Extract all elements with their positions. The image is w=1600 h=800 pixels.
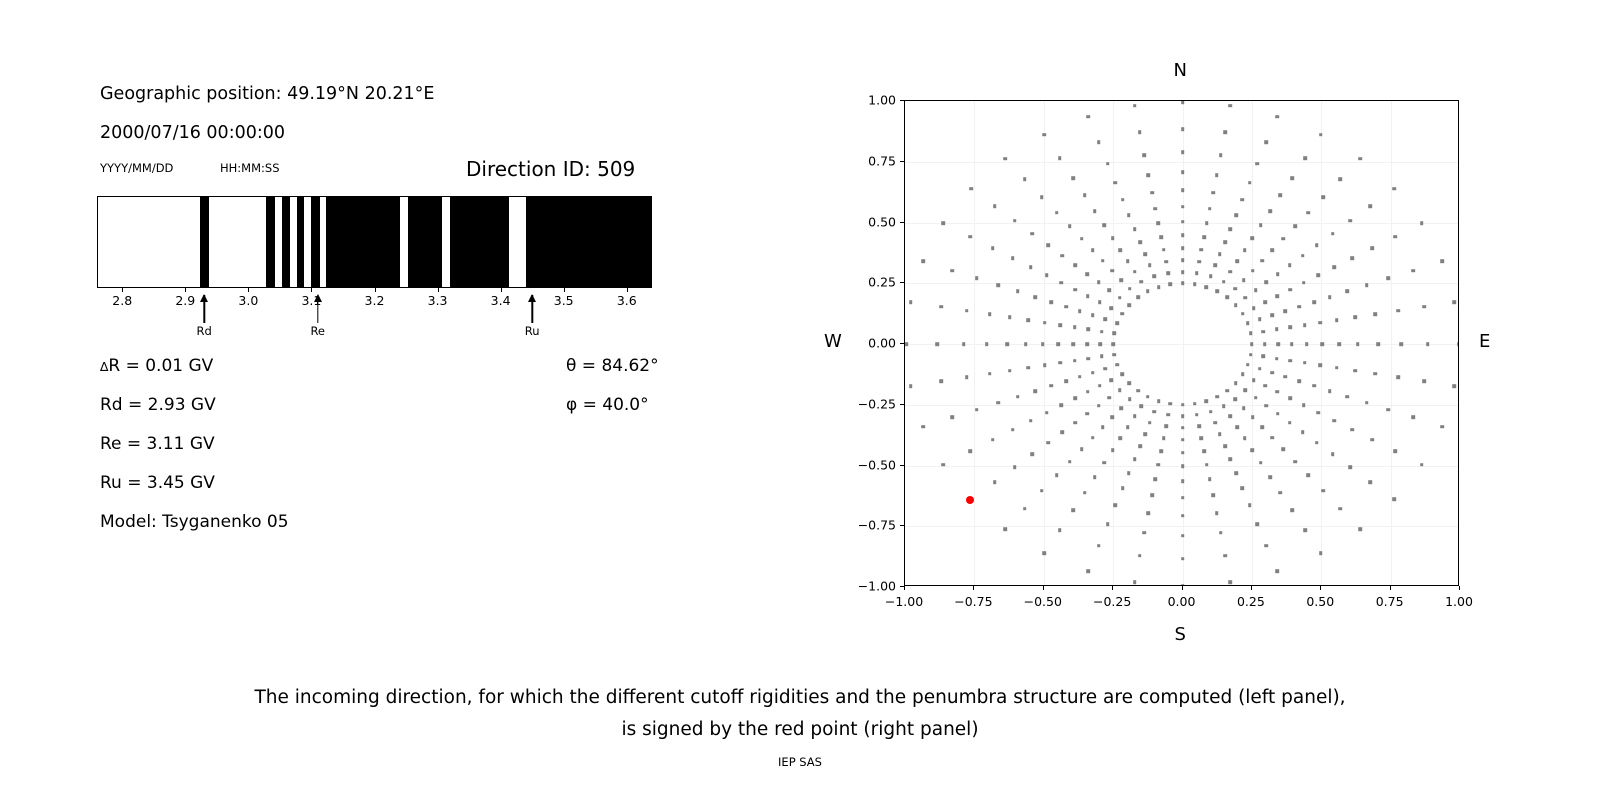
penumbra-band (311, 197, 320, 287)
direction-sample-point (1029, 419, 1033, 423)
direction-sample-point (1234, 381, 1238, 385)
direction-sample-point (1241, 487, 1245, 491)
direction-sample-point (1041, 342, 1045, 346)
direction-sample-point (1181, 189, 1185, 193)
direction-sample-point (1260, 425, 1264, 429)
direction-sample-point (1288, 359, 1292, 363)
direction-sample-point (1281, 447, 1285, 451)
direction-sample-point (1181, 281, 1185, 285)
direction-sample-point (1043, 133, 1047, 137)
direction-sample-point (1234, 471, 1238, 475)
direction-sample-point (965, 309, 969, 313)
direction-sample-point (1057, 342, 1061, 346)
direction-sample-point (1319, 552, 1323, 556)
direction-sample-point (1246, 363, 1250, 367)
penumbra-axis-tick (311, 288, 312, 292)
direction-sample-point (1080, 237, 1084, 241)
penumbra-band (282, 197, 290, 287)
direction-sample-point (1121, 373, 1125, 377)
direction-sample-point (1453, 300, 1457, 304)
x-axis-tick (1112, 586, 1113, 590)
direction-sample-point (1146, 290, 1150, 294)
compass-west-label: W (824, 331, 842, 352)
direction-sample-point (1204, 399, 1208, 403)
direction-sample-point (1276, 342, 1280, 346)
direction-sample-point (1112, 353, 1116, 357)
direction-sample-point (1097, 404, 1101, 408)
direction-sample-point (1333, 419, 1337, 423)
direction-sample-point (1013, 465, 1017, 469)
direction-sample-point (1074, 421, 1078, 425)
direction-sample-point (1259, 461, 1263, 465)
direction-sample-point (1181, 234, 1185, 238)
direction-sample-point (1213, 421, 1217, 425)
direction-sample-point (1104, 367, 1108, 371)
direction-sample-point (1338, 507, 1342, 511)
direction-sample-point (1241, 373, 1245, 377)
direction-sample-point (1073, 326, 1077, 330)
direction-sample-point (935, 342, 939, 346)
direction-sample-point (1256, 162, 1260, 166)
direction-sample-point (1029, 265, 1033, 269)
direction-sample-point (968, 450, 972, 454)
direction-sample-point (1396, 375, 1400, 379)
direction-sample-point (1248, 503, 1252, 507)
direction-sample-point (1116, 363, 1120, 367)
direction-sample-point (1166, 413, 1170, 417)
direction-sample-point (1086, 272, 1090, 276)
direction-sample-point (1164, 260, 1168, 264)
direction-sample-point (1205, 463, 1209, 467)
direction-sample-point (1252, 378, 1256, 382)
x-axis-tick-label: 0.25 (1237, 594, 1265, 609)
direction-sample-point (1422, 305, 1426, 309)
direction-sample-point (1181, 438, 1185, 442)
direction-sample-point (1080, 447, 1084, 451)
x-axis-tick-label: −0.50 (1024, 594, 1062, 609)
direction-sample-point (1116, 321, 1120, 325)
compass-east-label: E (1479, 331, 1490, 352)
gridline-horizontal (905, 162, 1458, 163)
direction-sample-point (1133, 580, 1137, 584)
direction-sample-point (1119, 436, 1123, 440)
y-axis-tick-label: 1.00 (842, 93, 896, 108)
direction-sample-point (1235, 425, 1239, 429)
direction-sample-point (1319, 133, 1323, 137)
direction-sample-point (1288, 263, 1292, 267)
direction-sample-point (1098, 384, 1102, 388)
model-value: Model: Tsyganenko 05 (100, 512, 289, 532)
x-axis-tick (1459, 586, 1460, 590)
direction-sample-point (1263, 342, 1267, 346)
direction-sample-point (1202, 449, 1206, 453)
direction-sample-point (1064, 379, 1068, 383)
direction-sample-point (1305, 342, 1309, 346)
direction-sample-point (1331, 232, 1335, 236)
direction-sample-point (1128, 397, 1132, 401)
direction-sample-point (1271, 436, 1275, 440)
direction-sample-point (1143, 531, 1147, 535)
x-axis-tick (973, 586, 974, 590)
direction-sample-point (1370, 438, 1374, 442)
direction-sample-point (1133, 457, 1137, 461)
direction-sample-point (1275, 328, 1279, 332)
phi-value: φ = 40.0° (566, 395, 649, 415)
direction-sample-point (1377, 342, 1381, 346)
direction-sample-point (1350, 256, 1354, 260)
direction-sample-point (1235, 259, 1239, 263)
direction-sample-point (1223, 444, 1227, 448)
gridline-vertical (1391, 101, 1392, 585)
direction-sample-point (1159, 235, 1163, 239)
direction-sample-point (1071, 176, 1075, 180)
direction-sample-point (1353, 316, 1357, 320)
direction-sample-point (1222, 404, 1226, 408)
direction-sample-point (1215, 290, 1219, 294)
direction-sample-point (1108, 396, 1112, 400)
direction-sample-point (1043, 552, 1047, 556)
direction-sample-point (1358, 157, 1362, 161)
direction-sample-point (1222, 280, 1226, 284)
direction-sample-point (1181, 426, 1185, 430)
direction-sample-point (1181, 403, 1185, 407)
y-axis-tick-label: −1.00 (842, 579, 896, 594)
arrow-up-icon (528, 294, 536, 302)
direction-sample-point (1119, 278, 1123, 282)
direction-sample-point (1153, 410, 1157, 414)
gridline-vertical (974, 101, 975, 585)
direction-sample-point (1040, 489, 1044, 493)
direction-sample-point (1073, 397, 1077, 401)
direction-sample-point (1126, 425, 1130, 429)
direction-sample-point (1061, 430, 1065, 434)
direction-sample-point (1370, 246, 1374, 250)
direction-sample-point (1087, 357, 1091, 361)
direction-sample-point (1335, 366, 1339, 370)
direction-sample-point (1262, 330, 1266, 334)
direction-sample-point (1193, 402, 1197, 406)
x-axis-tick-label: −0.25 (1093, 594, 1131, 609)
direction-sample-point (1288, 397, 1292, 401)
direction-sample-point (1016, 290, 1020, 294)
direction-sample-point (1302, 281, 1306, 285)
x-axis-tick-label: −1.00 (885, 594, 923, 609)
direction-sample-point (1275, 357, 1279, 361)
direction-sample-point (1283, 375, 1287, 379)
direction-sample-point (1121, 198, 1125, 202)
direction-sample-point (1061, 254, 1065, 258)
direction-sample-point (988, 312, 992, 316)
direction-sample-point (939, 305, 943, 309)
y-axis-tick-label: 0.75 (842, 153, 896, 168)
direction-sample-point (1213, 264, 1217, 268)
penumbra-axis-tick-label: 3.3 (428, 293, 448, 308)
direction-sample-point (1288, 326, 1292, 330)
direction-sample-point (1276, 272, 1280, 276)
penumbra-band (326, 197, 400, 287)
direction-sample-point (1148, 421, 1152, 425)
direction-sample-point (1083, 194, 1087, 198)
compass-north-label: N (1174, 60, 1187, 81)
direction-sample-point (1197, 425, 1201, 429)
direction-sample-point (1422, 380, 1426, 384)
y-axis-tick-label: −0.75 (842, 518, 896, 533)
direction-sample-point (1146, 395, 1150, 399)
direction-sample-point (1440, 425, 1444, 429)
y-axis-tick (900, 465, 904, 466)
datetime-label: 2000/07/16 00:00:00 (100, 123, 285, 143)
penumbra-axis-tick (501, 288, 502, 292)
direction-sample-point (1263, 384, 1267, 388)
direction-sample-point (1045, 411, 1049, 415)
x-axis-tick (1390, 586, 1391, 590)
direction-sample-point (1259, 223, 1263, 227)
direction-sample-point (1260, 259, 1264, 263)
direction-sample-point (1251, 448, 1255, 452)
direction-sample-point (1068, 225, 1072, 229)
direction-sample-point (1315, 441, 1319, 445)
direction-sample-point (1110, 416, 1114, 420)
direction-sample-point (1374, 372, 1378, 376)
direction-sample-point (1147, 511, 1151, 515)
direction-sample-point (1060, 281, 1064, 285)
direction-sample-point (1181, 171, 1185, 175)
y-axis-tick (900, 586, 904, 587)
figure-caption: The incoming direction, for which the di… (0, 682, 1600, 746)
direction-sample-point (1101, 425, 1105, 429)
direction-sample-point (1059, 361, 1063, 365)
direction-sample-point (988, 372, 992, 376)
direction-sample-point (1140, 280, 1144, 284)
marker-label: Re (310, 324, 325, 338)
direction-sample-point (1148, 264, 1152, 268)
direction-sample-point (1244, 388, 1248, 392)
direction-sample-point (1026, 318, 1030, 322)
direction-sample-point (1140, 404, 1144, 408)
direction-sample-point (975, 277, 979, 281)
penumbra-band (266, 197, 275, 287)
direction-sample-point (1098, 300, 1102, 304)
direction-sample-point (1301, 430, 1305, 434)
direction-sample-point (991, 438, 995, 442)
direction-sample-point (1033, 295, 1037, 299)
direction-sample-point (1348, 465, 1352, 469)
direction-sample-point (1136, 389, 1140, 393)
direction-sample-point (1150, 493, 1154, 497)
direction-sample-point (1303, 156, 1307, 160)
direction-sample-point (1195, 413, 1199, 417)
direction-sample-point (1249, 353, 1253, 357)
direction-sample-point (962, 342, 966, 346)
y-axis-tick-label: 0.25 (842, 275, 896, 290)
direction-sample-point (1128, 303, 1132, 307)
direction-sample-point (1110, 378, 1114, 382)
penumbra-band (526, 197, 652, 287)
direction-sample-point (909, 384, 913, 388)
caption-line-1: The incoming direction, for which the di… (0, 682, 1600, 714)
direction-sample-point (1114, 181, 1118, 185)
direction-sample-point (1293, 225, 1297, 229)
direction-sample-point (1126, 259, 1130, 263)
direction-sample-point (1369, 480, 1373, 484)
direction-sample-point (1055, 474, 1059, 478)
direction-sample-point (1302, 403, 1306, 407)
direction-sample-point (1333, 265, 1337, 269)
penumbra-band (297, 197, 303, 287)
direction-sample-point (1223, 240, 1227, 244)
direction-sample-point (1264, 281, 1268, 285)
direction-sample-point (1043, 321, 1047, 325)
right-panel: N S W E −1.00−0.75−0.50−0.250.000.250.50… (800, 0, 1600, 660)
penumbra-band (408, 197, 441, 287)
penumbra-axis-tick (627, 288, 628, 292)
direction-sample-point (1073, 288, 1077, 292)
direction-sample-point (1288, 421, 1292, 425)
direction-sample-point (1043, 363, 1047, 367)
direction-sample-point (1263, 300, 1267, 304)
direction-sample-point (1234, 287, 1238, 291)
direction-sample-point (1118, 296, 1122, 300)
penumbra-axis-tick (564, 288, 565, 292)
direction-sample-point (1270, 314, 1274, 318)
y-axis-tick-label: −0.50 (842, 457, 896, 472)
direction-sample-point (1099, 342, 1103, 346)
direction-sample-point (1358, 527, 1362, 531)
direction-sample-point (1440, 260, 1444, 264)
direction-sample-point (1003, 157, 1007, 161)
direction-sample-point (1101, 259, 1105, 263)
direction-sample-point (1251, 269, 1255, 273)
direction-sample-point (1181, 246, 1185, 250)
direction-sample-point (1086, 294, 1090, 298)
direction-sample-point (1093, 475, 1097, 479)
direction-sample-point (1071, 508, 1075, 512)
penumbra-axis-tick-label: 3.6 (617, 293, 637, 308)
direction-sample-point (1215, 395, 1219, 399)
direction-sample-point (1073, 359, 1077, 363)
direction-sample-point (1229, 580, 1233, 584)
direction-sample-point (1318, 321, 1322, 325)
y-axis-tick (900, 343, 904, 344)
direction-sample-point (1023, 507, 1027, 511)
direction-sample-point (1133, 270, 1137, 274)
date-format-hint: YYYY/MM/DD (100, 161, 173, 175)
direction-sample-point (1156, 222, 1160, 226)
direction-sample-point (905, 342, 909, 346)
penumbra-axis-tick (375, 288, 376, 292)
direction-sample-point (1275, 390, 1279, 394)
penumbra-axis-tick-label: 3.5 (554, 293, 574, 308)
direction-sample-point (1290, 342, 1294, 346)
direction-sample-point (1392, 498, 1396, 502)
penumbra-axis-tick-label: 3.0 (238, 293, 258, 308)
delta-r-text: R = 0.01 GV (108, 356, 213, 376)
direction-sample-point (1119, 248, 1123, 252)
direction-sample-point (1136, 296, 1140, 300)
direction-sample-point (1228, 415, 1232, 419)
direction-sample-point (997, 284, 1001, 288)
direction-sample-point (1219, 531, 1223, 535)
direction-sample-point (1046, 243, 1050, 247)
direction-sample-point (1268, 475, 1272, 479)
selected-direction-point[interactable] (966, 496, 974, 504)
direction-sample-point (1181, 534, 1185, 538)
direction-sample-point (1411, 269, 1415, 273)
direction-sample-point (991, 246, 995, 250)
y-axis-tick (900, 222, 904, 223)
direction-sample-point (1276, 412, 1280, 416)
direction-sample-point (1162, 436, 1166, 440)
direction-sample-point (1111, 448, 1115, 452)
direction-sample-point (1031, 452, 1035, 456)
direction-sample-point (1078, 375, 1082, 379)
direction-sample-point (1138, 444, 1142, 448)
direction-sample-point (1265, 140, 1269, 144)
direction-sample-point (942, 463, 946, 467)
direction-sample-point (1297, 305, 1301, 309)
direction-sample-point (1254, 396, 1258, 400)
direction-sample-point (1246, 321, 1250, 325)
direction-sample-point (1200, 436, 1204, 440)
direction-sample-point (1127, 471, 1131, 475)
direction-sample-point (1202, 235, 1206, 239)
direction-sample-point (1164, 425, 1168, 429)
direction-sample-point (1147, 173, 1151, 177)
penumbra-axis-tick (248, 288, 249, 292)
direction-sample-point (1046, 441, 1050, 445)
direction-sample-point (1086, 115, 1090, 119)
direction-sample-point (1256, 522, 1260, 526)
direction-sample-point (1055, 211, 1059, 215)
direction-sample-point (1106, 162, 1110, 166)
direction-sample-point (1243, 248, 1247, 252)
direction-sample-point (1392, 187, 1396, 191)
direction-sample-point (1181, 259, 1185, 263)
direction-sample-point (1312, 384, 1316, 388)
direction-sample-point (1242, 406, 1246, 410)
direction-sample-point (1252, 306, 1256, 310)
direction-sample-point (1393, 235, 1397, 239)
y-axis-tick-label: 0.50 (842, 214, 896, 229)
direction-sample-point (1453, 384, 1457, 388)
direction-sample-point (1290, 508, 1294, 512)
direction-sample-point (1111, 236, 1115, 240)
direction-sample-point (1091, 248, 1095, 252)
direction-sample-point (1209, 410, 1213, 414)
direction-sample-point (1318, 363, 1322, 367)
direction-sample-point (1110, 306, 1114, 310)
direction-sample-point (1258, 367, 1262, 371)
direction-sample-point (1316, 411, 1320, 415)
geographic-position-label: Geographic position: 49.19°N 20.21°E (100, 84, 435, 104)
direction-sample-point (1049, 384, 1053, 388)
direction-sample-point (921, 260, 925, 264)
penumbra-axis-tick-label: 2.8 (112, 293, 132, 308)
penumbra-axis-tick-label: 3.2 (365, 293, 385, 308)
direction-sample-point (1211, 191, 1215, 195)
direction-sample-point (1008, 369, 1012, 373)
penumbra-axis: 2.82.93.03.13.23.33.43.53.6 (97, 288, 652, 302)
direction-sample-point (1396, 309, 1400, 313)
direction-sample-point (1100, 330, 1104, 334)
direction-sample-point (1111, 342, 1115, 346)
direction-sample-point (1346, 395, 1350, 399)
direction-sample-point (975, 408, 979, 412)
credit-label: IEP SAS (0, 755, 1600, 769)
direction-sample-point (1087, 328, 1091, 332)
direction-sample-point (1083, 491, 1087, 495)
direction-sample-point (1181, 220, 1185, 224)
